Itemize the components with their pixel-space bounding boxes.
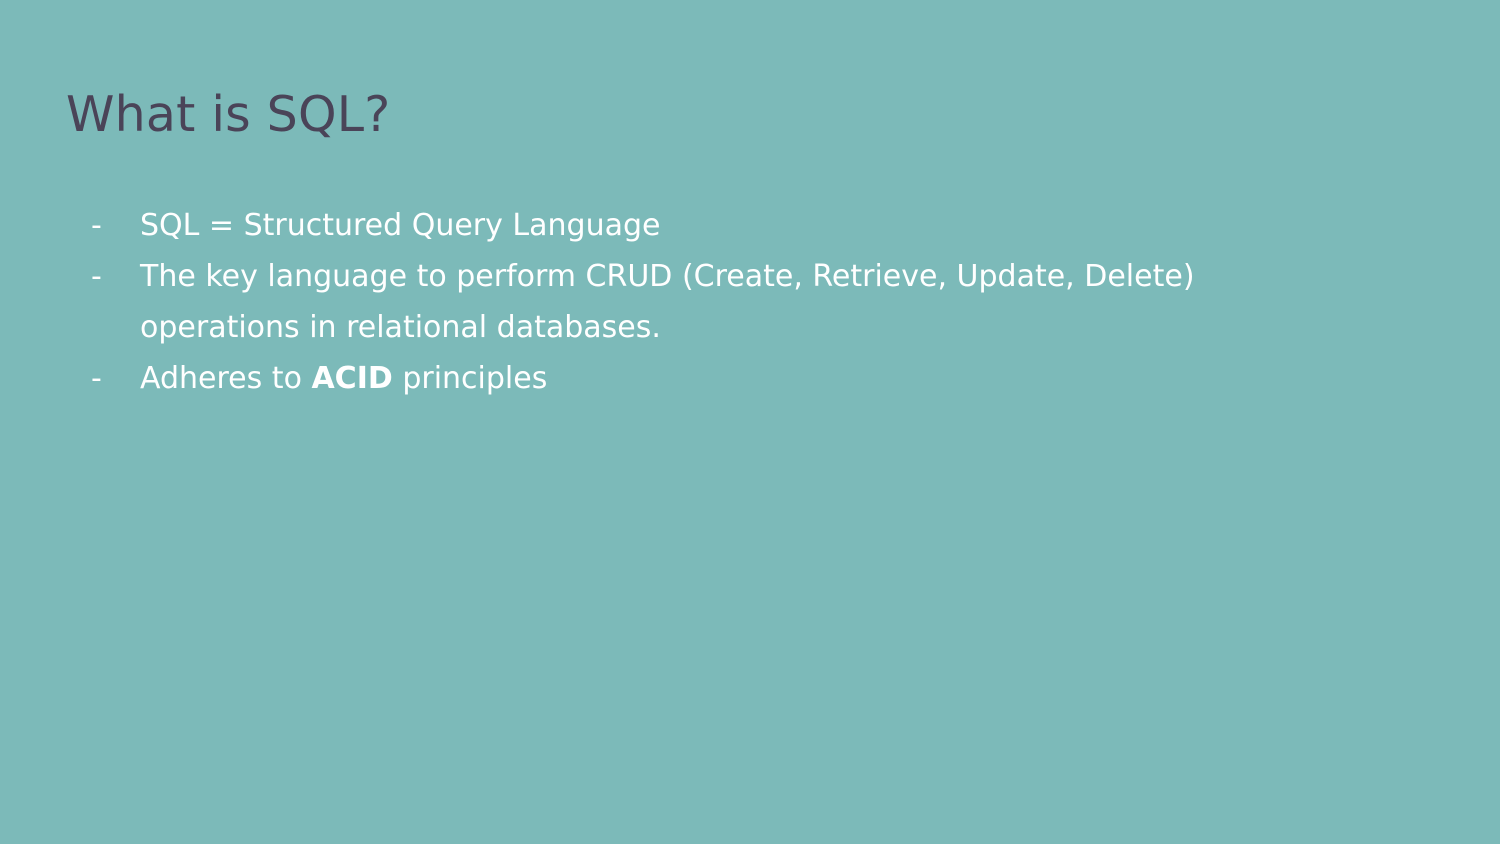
- list-item: - The key language to perform CRUD (Crea…: [86, 251, 1386, 353]
- bullet-marker-icon: -: [86, 353, 140, 404]
- slide-canvas: What is SQL? - SQL = Structured Query La…: [0, 0, 1500, 844]
- list-item: - SQL = Structured Query Language: [86, 200, 1386, 251]
- list-item-label-prefix: Adheres to: [140, 361, 311, 396]
- bullet-marker-icon: -: [86, 251, 140, 302]
- list-item-label-suffix: principles: [393, 361, 548, 396]
- list-item: - Adheres to ACID principles: [86, 353, 1386, 404]
- list-item-label: Adheres to ACID principles: [140, 353, 1335, 404]
- list-item-label: The key language to perform CRUD (Create…: [140, 251, 1335, 353]
- list-item-label-emphasis: ACID: [311, 361, 392, 396]
- list-item-label: SQL = Structured Query Language: [140, 200, 1335, 251]
- bullet-marker-icon: -: [86, 200, 140, 251]
- page-title: What is SQL?: [66, 88, 390, 142]
- bullet-list: - SQL = Structured Query Language - The …: [86, 200, 1386, 404]
